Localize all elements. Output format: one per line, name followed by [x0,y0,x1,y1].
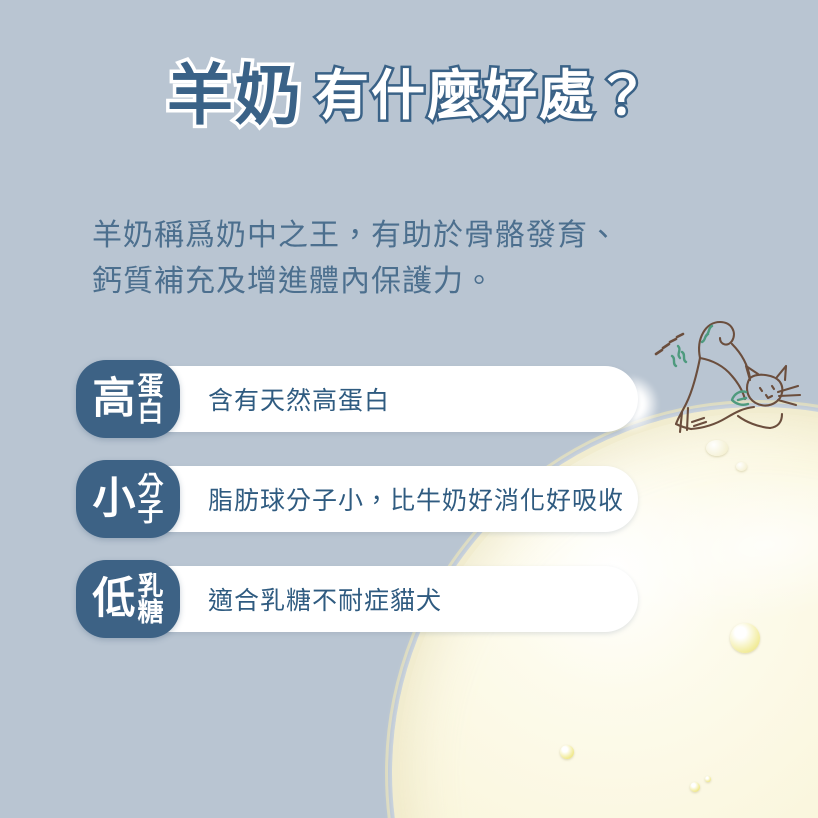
milk-droplet [560,745,574,759]
intro-line-2: 鈣質補充及增進體內保護力。 [92,259,692,305]
feature-list: 含有天然高蛋白 高 蛋 白 脂肪球分子小，比牛奶好消化好吸收 小 分 子 [0,360,818,660]
badge-top-char: 乳 [137,573,163,599]
badge-main-char: 高 [92,378,135,421]
milk-droplet [690,782,700,792]
feature-badge-molecule: 小 分 子 [76,460,180,538]
page-title: 羊奶有什麼好處？ [0,58,818,134]
badge-stacked-chars: 蛋 白 [137,373,163,425]
feature-row-lactose: 適合乳糖不耐症貓犬 低 乳 糖 [0,560,818,638]
feature-badge-lactose: 低 乳 糖 [76,560,180,638]
badge-main-char: 小 [92,478,135,521]
badge-stacked-chars: 分 子 [137,473,163,525]
badge-main-char: 低 [92,578,135,621]
feature-pill: 脂肪球分子小，比牛奶好消化好吸收 [118,466,638,532]
feature-text: 脂肪球分子小，比牛奶好消化好吸收 [208,481,624,517]
feature-text: 含有天然高蛋白 [208,381,390,417]
title-highlight: 羊奶 [167,58,303,134]
intro-paragraph: 羊奶稱爲奶中之王，有助於骨骼發育、 鈣質補充及增進體內保護力。 [92,213,692,304]
badge-stacked-chars: 乳 糖 [137,573,163,625]
badge-bottom-char: 白 [137,399,163,425]
badge-top-char: 分 [137,473,163,499]
poster-canvas: 羊奶有什麼好處？ 羊奶稱爲奶中之王，有助於骨骼發育、 鈣質補充及增進體內保護力。… [0,0,818,818]
intro-line-1: 羊奶稱爲奶中之王，有助於骨骼發育、 [92,213,692,259]
feature-pill: 適合乳糖不耐症貓犬 [118,566,638,632]
feature-row-molecule: 脂肪球分子小，比牛奶好消化好吸收 小 分 子 [0,460,818,538]
title-rest: 有什麼好處？ [315,65,651,127]
badge-top-char: 蛋 [137,373,163,399]
feature-badge-protein: 高 蛋 白 [76,360,180,438]
milk-droplet [705,776,711,782]
feature-text: 適合乳糖不耐症貓犬 [208,581,442,617]
feature-row-protein: 含有天然高蛋白 高 蛋 白 [0,360,818,438]
badge-bottom-char: 子 [137,499,163,525]
badge-bottom-char: 糖 [137,599,163,625]
feature-pill: 含有天然高蛋白 [118,366,638,432]
